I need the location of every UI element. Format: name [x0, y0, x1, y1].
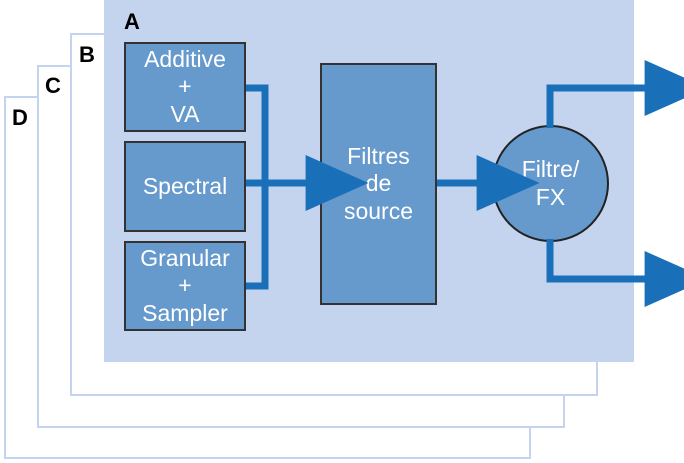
source-box-additive[interactable]: Additive + VA — [124, 42, 246, 132]
source-box-granular[interactable]: Granular + Sampler — [124, 241, 246, 331]
panel-label-c: C — [45, 75, 61, 97]
panel-label-b: B — [79, 44, 95, 66]
panel-label-a: A — [124, 11, 140, 33]
stage-circle-filter-fx[interactable]: Filtre/ FX — [492, 125, 609, 242]
stage-box-source-filters[interactable]: Filtres de source — [320, 63, 437, 305]
panel-label-d: D — [12, 107, 28, 129]
synth-architecture-diagram: D C B A Additive + VA Spectral Granular … — [0, 0, 684, 463]
source-box-spectral[interactable]: Spectral — [124, 141, 246, 232]
